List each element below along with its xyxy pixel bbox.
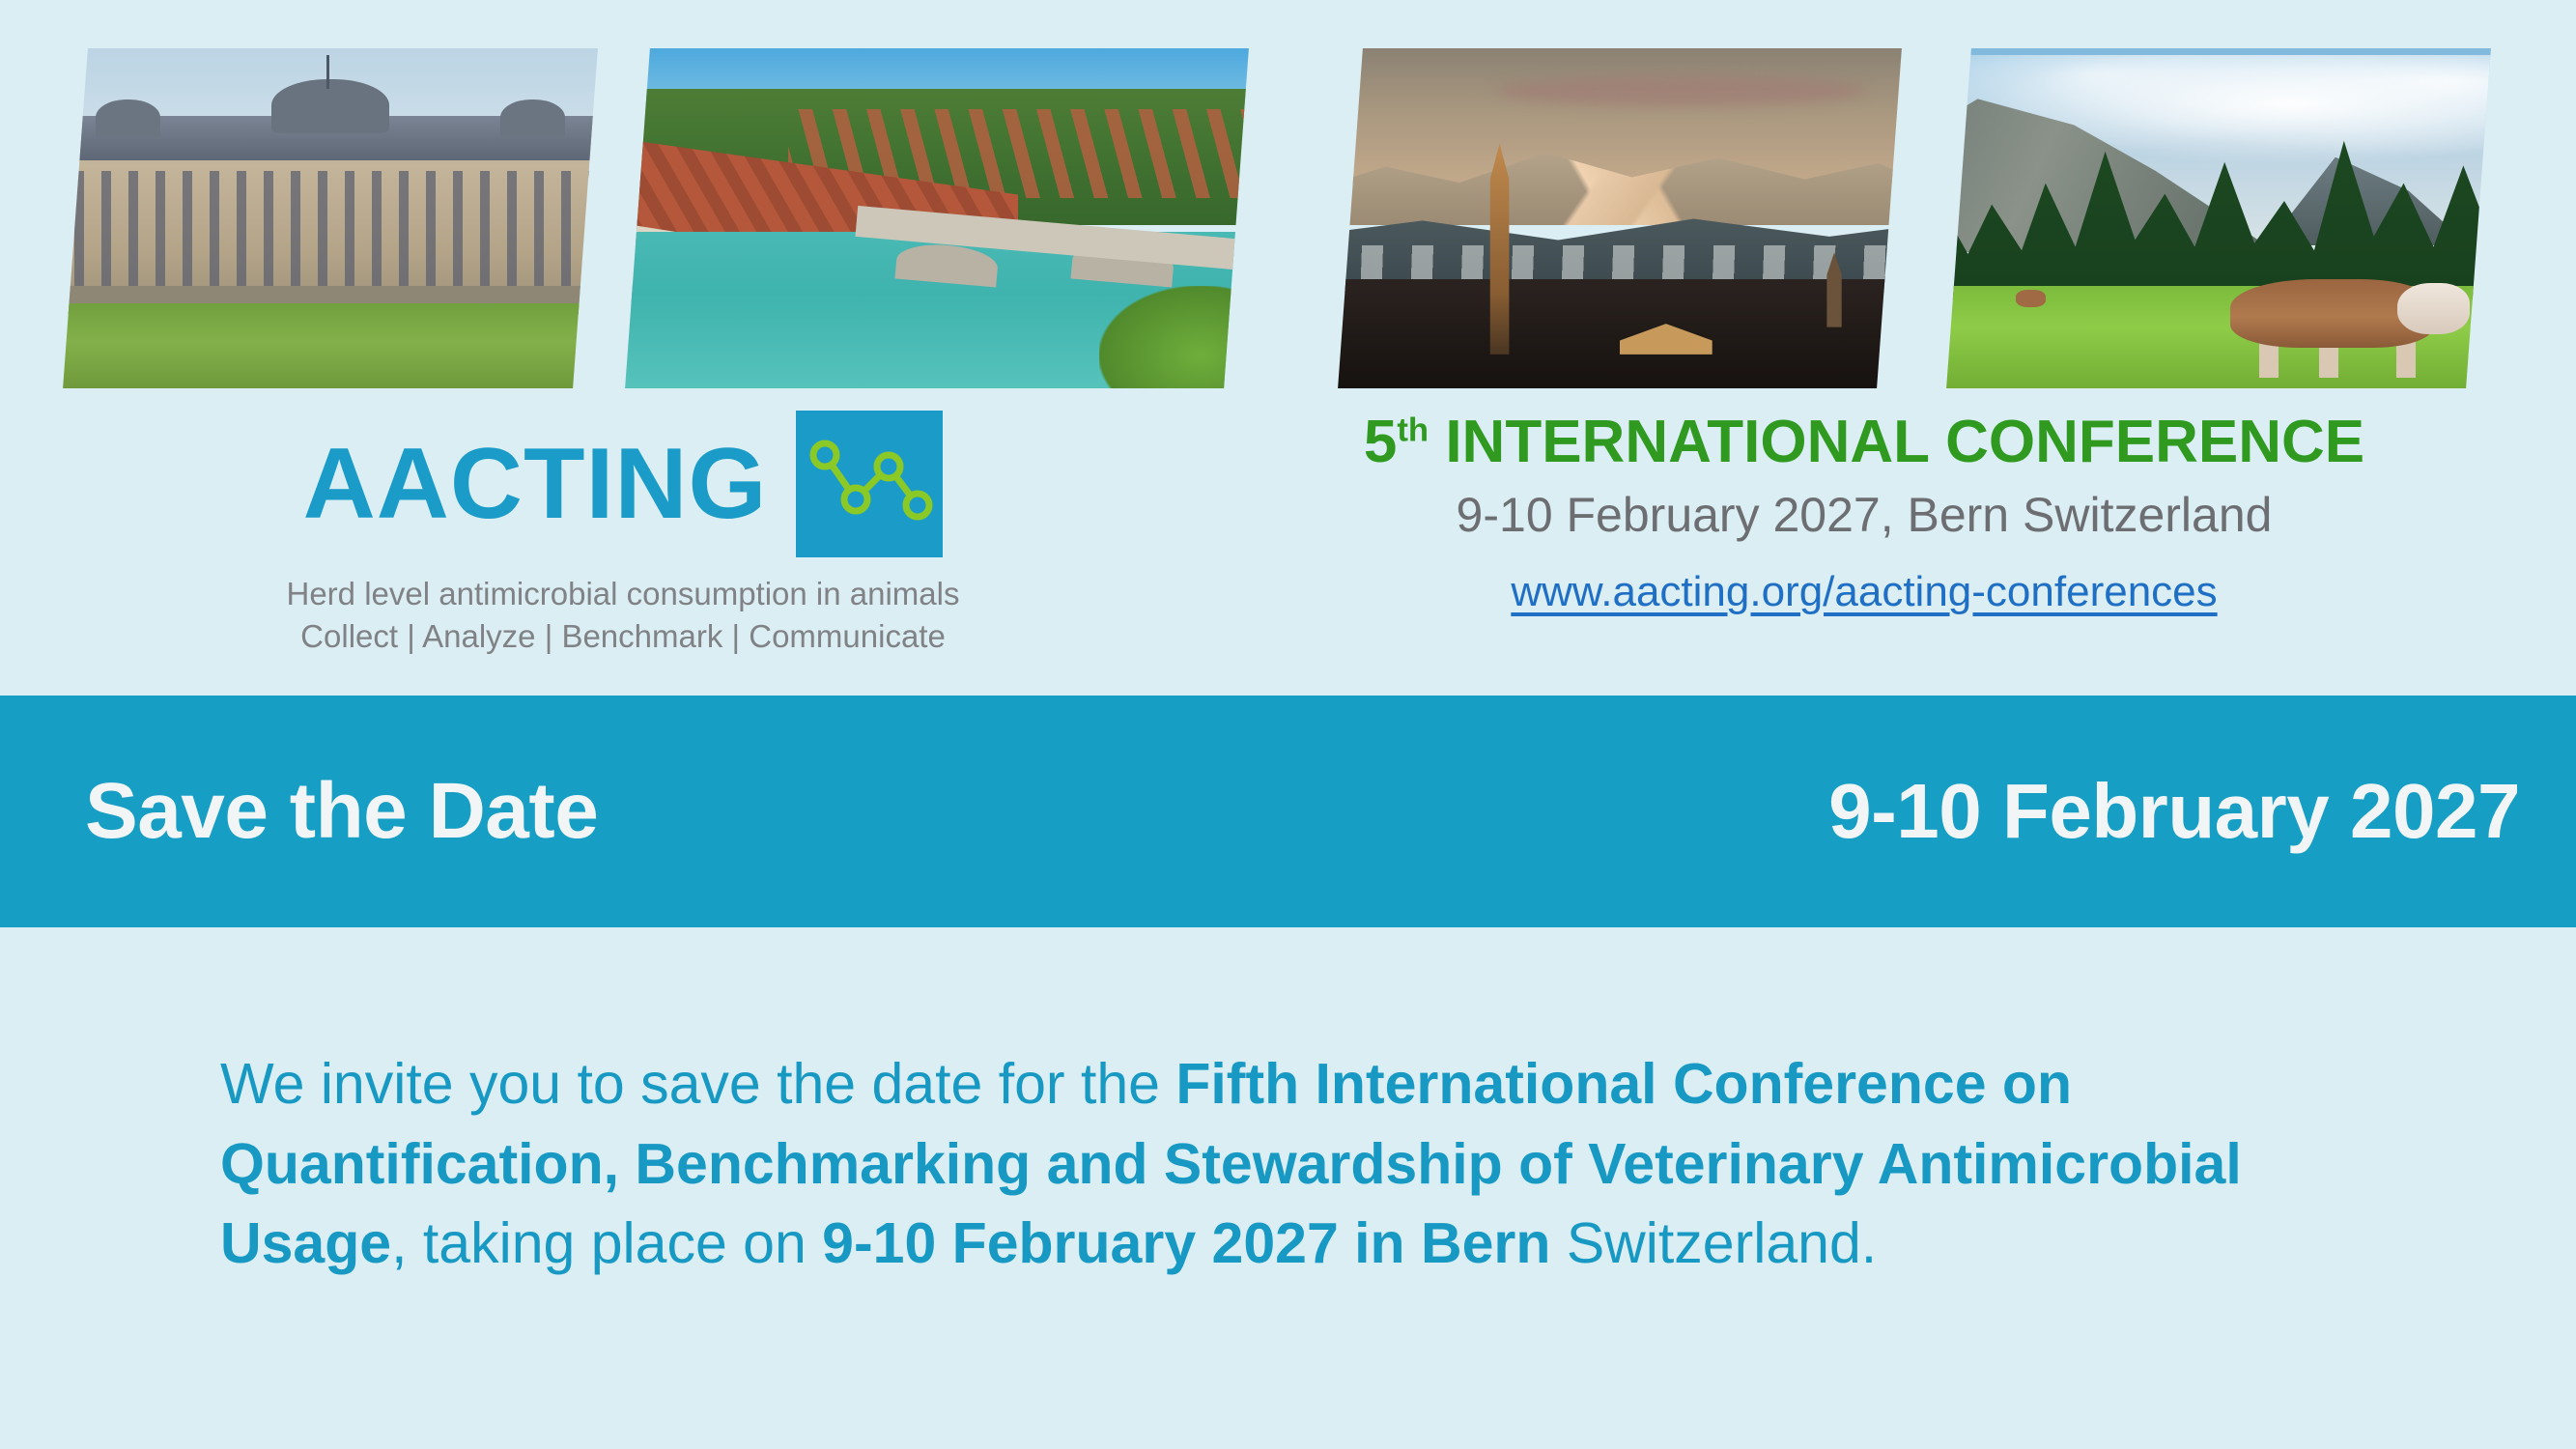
foreground-tree	[1099, 286, 1249, 388]
line-chart-icon	[796, 411, 943, 557]
logo-tagline-line2: Collect | Analyze | Benchmark | Communic…	[241, 615, 1005, 658]
banner-dates: 9-10 February 2027	[1828, 767, 2520, 856]
save-the-date-banner: Save the Date 9-10 February 2027	[0, 696, 2576, 927]
invite-segment-3: , taking place on	[391, 1211, 822, 1275]
photo-university-building	[63, 48, 598, 388]
left-dome	[96, 99, 160, 137]
invite-segment-5: Switzerland.	[1550, 1211, 1877, 1275]
conference-heading: 5th INTERNATIONAL CONFERENCE 9-10 Februa…	[1188, 411, 2540, 616]
central-dome	[271, 79, 389, 133]
right-dome	[500, 99, 565, 137]
distant-cow	[2016, 290, 2046, 307]
window-rows	[66, 171, 594, 294]
roof-spire	[326, 55, 329, 89]
cow-leg	[2396, 341, 2416, 379]
conference-title: 5th INTERNATIONAL CONFERENCE	[1188, 411, 2540, 475]
aacting-logo: AACTING Herd level antimicrobial consump…	[241, 411, 1005, 658]
snow-fields	[1338, 245, 1902, 279]
invitation-body: We invite you to save the date for the F…	[220, 987, 2393, 1341]
lawn	[63, 303, 598, 388]
city-silhouette	[1338, 279, 1902, 388]
photo-strip	[0, 0, 2576, 396]
conference-ordinal-suffix: th	[1397, 412, 1429, 448]
cloud	[1496, 75, 1866, 106]
conference-ordinal: 5	[1364, 409, 1397, 475]
invite-segment-1: We invite you to save the date for the	[220, 1052, 1175, 1116]
photo-cow-alpine-meadow	[1946, 48, 2491, 388]
photo-minster-alps-sunset	[1338, 48, 1902, 388]
conference-date-location: 9-10 February 2027, Bern Switzerland	[1188, 487, 2540, 543]
banner-headline: Save the Date	[85, 766, 598, 857]
invitation-paragraph: We invite you to save the date for the F…	[220, 1044, 2393, 1284]
photo-aare-river-old-town	[625, 48, 1249, 388]
aacting-wordmark: AACTING	[303, 434, 768, 534]
cow-head	[2397, 283, 2469, 334]
conference-website-link[interactable]: www.aacting.org/aacting-conferences	[1511, 568, 2217, 616]
conference-title-text: INTERNATIONAL CONFERENCE	[1445, 409, 2364, 475]
dusk-sky	[1338, 48, 1902, 185]
invite-date-place: 9-10 February 2027 in Bern	[822, 1211, 1550, 1275]
logo-tagline-line1: Herd level antimicrobial consumption in …	[241, 573, 1005, 615]
